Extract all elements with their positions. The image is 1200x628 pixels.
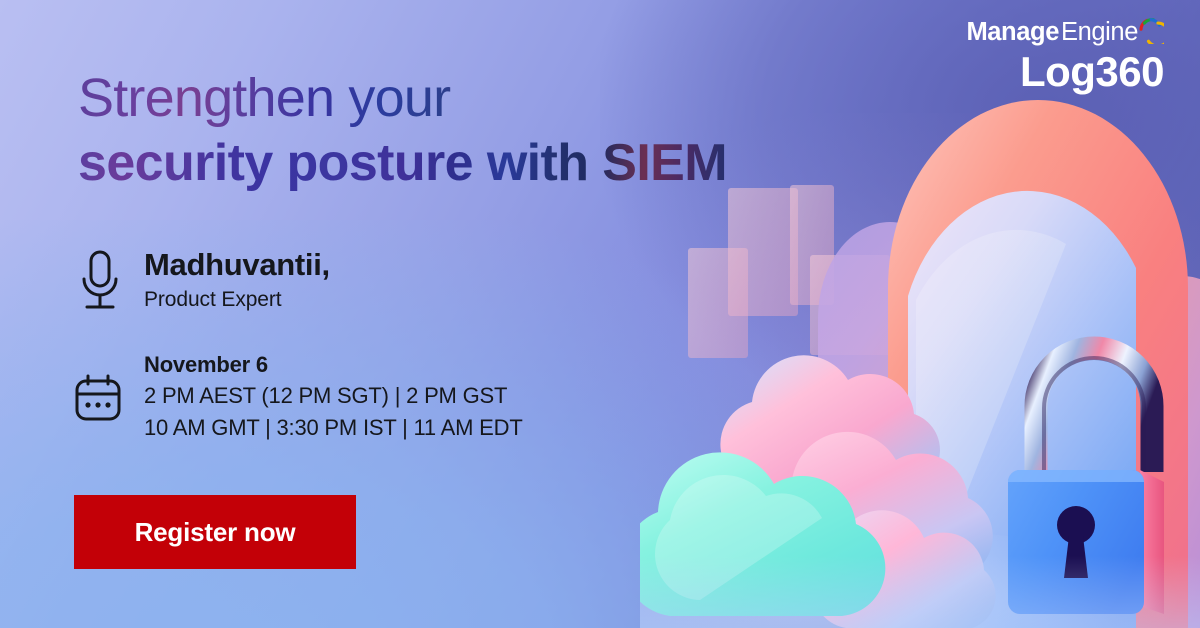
- schedule-text: November 6 2 PM AEST (12 PM SGT) | 2 PM …: [144, 350, 523, 443]
- manageengine-log360-logo: Manage Engine Log360: [966, 18, 1164, 94]
- speaker-text: Madhuvantii, Product Expert: [144, 245, 330, 313]
- headline-line-1: Strengthen your: [78, 68, 727, 128]
- speaker-role: Product Expert: [144, 286, 330, 313]
- page-title: Strengthen your security posture with SI…: [78, 68, 727, 195]
- calendar-icon: [72, 372, 124, 424]
- event-date: November 6: [144, 350, 523, 380]
- manageengine-swoosh-icon: [1137, 17, 1164, 44]
- webinar-promo-banner: Manage Engine Log360 Strengthen your sec…: [0, 0, 1200, 628]
- schedule-info: November 6 2 PM AEST (12 PM SGT) | 2 PM …: [72, 350, 523, 443]
- register-now-button[interactable]: Register now: [74, 495, 356, 569]
- headline-line-2: security posture with SIEM: [78, 132, 727, 194]
- speaker-info: Madhuvantii, Product Expert: [78, 245, 330, 313]
- event-times-line-2: 10 AM GMT | 3:30 PM IST | 11 AM EDT: [144, 412, 523, 444]
- microphone-icon: [78, 249, 122, 313]
- logo-engine-text: Engine: [1061, 20, 1138, 46]
- log360-product-name: Log360: [966, 50, 1164, 94]
- event-times-line-1: 2 PM AEST (12 PM SGT) | 2 PM GST: [144, 380, 523, 412]
- manageengine-wordmark: Manage Engine: [966, 18, 1164, 48]
- speaker-name: Madhuvantii,: [144, 247, 330, 283]
- logo-manage-text: Manage: [966, 20, 1059, 46]
